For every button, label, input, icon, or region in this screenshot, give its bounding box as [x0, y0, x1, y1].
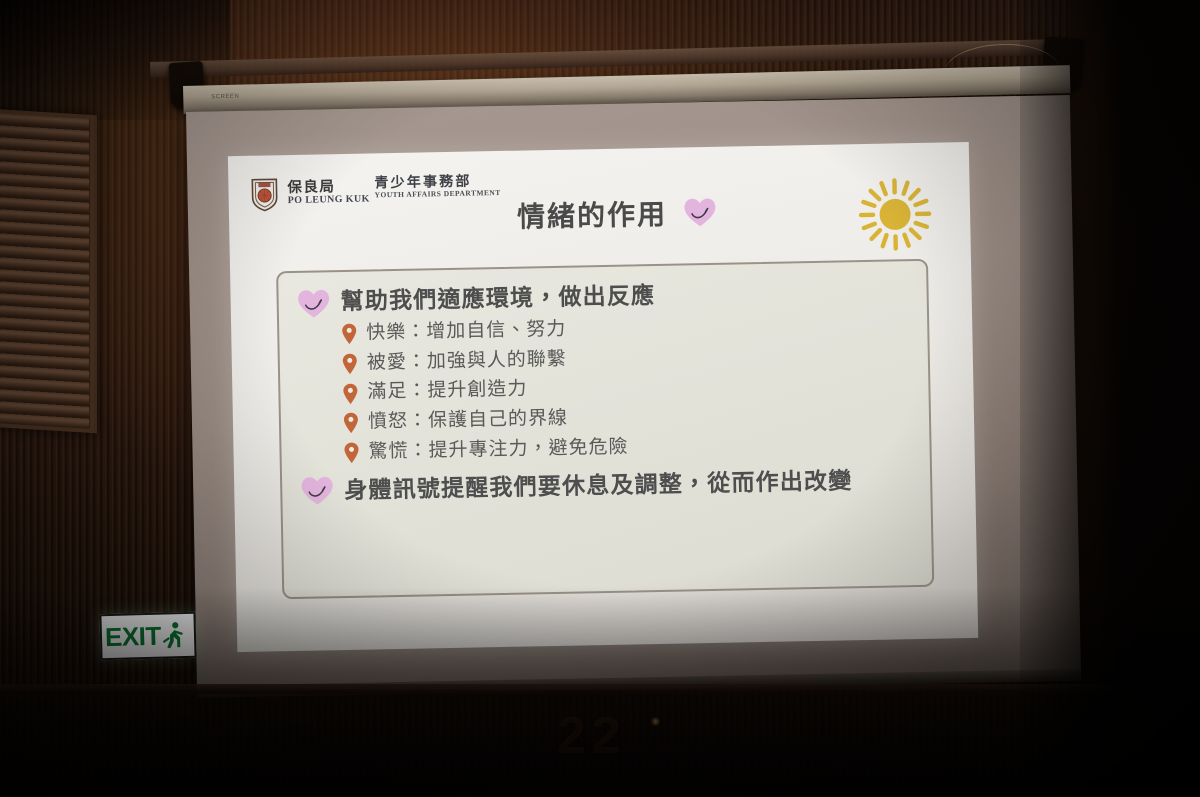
wall-shadow-bottom: [0, 587, 1200, 797]
vent-frame: [0, 109, 94, 433]
map-pin-icon: [343, 412, 359, 434]
heart-icon: [300, 476, 335, 507]
dept-name-en: Youth Affairs Department: [375, 189, 501, 200]
list-item-label: 驚慌：提升專注力，避免危險: [368, 435, 628, 465]
bullet-main-text: 幫助我們適應環境，做出反應: [340, 280, 655, 318]
ventilation-grille: [0, 109, 97, 434]
list-item: 憤怒：保護自己的界線: [343, 400, 913, 436]
po-leung-kuk-crest-icon: [250, 177, 279, 212]
sun-icon: [855, 175, 934, 254]
map-pin-icon: [342, 382, 358, 404]
map-pin-icon: [343, 442, 359, 464]
presentation-slide: 保良局 Po Leung Kuk 青少年事務部 Youth Affairs De…: [228, 142, 978, 652]
heart-icon: [683, 197, 718, 228]
list-item: 滿足：提升創造力: [342, 370, 912, 406]
org-name-en: Po Leung Kuk: [288, 195, 370, 207]
slide-content-box: 幫助我們適應環境，做出反應 快樂：增加自信、努力: [276, 259, 934, 599]
map-pin-icon: [341, 323, 357, 345]
organisation-names: 保良局 Po Leung Kuk: [287, 180, 370, 207]
list-item: 被愛：加強與人的聯繫: [342, 341, 912, 377]
list-item-label: 被愛：加強與人的聯繫: [367, 347, 567, 376]
housing-label: SCREEN: [211, 94, 239, 101]
list-item: 快樂：增加自信、努力: [341, 311, 911, 347]
organisation-branding: 保良局 Po Leung Kuk: [250, 175, 370, 211]
bullet-main-text: 身體訊號提醒我們要休息及調整，從而作出改變: [344, 464, 853, 509]
heart-icon: [296, 288, 331, 319]
photograph-of-projected-slide: SCREEN 保良局 Po: [0, 0, 1200, 797]
list-item: 驚慌：提升專注力，避免危險: [343, 430, 913, 466]
sub-bullet-list: 快樂：增加自信、努力 被愛：加強與人的聯繫: [341, 311, 914, 465]
page-title: 情緒的作用: [517, 193, 668, 236]
list-item-label: 憤怒：保護自己的界線: [368, 407, 568, 436]
list-item-label: 快樂：增加自信、努力: [366, 318, 566, 347]
list-item-label: 滿足：提升創造力: [367, 378, 527, 406]
bullet-main: 身體訊號提醒我們要休息及調整，從而作出改變: [300, 463, 915, 510]
department-names: 青少年事務部 Youth Affairs Department: [374, 174, 501, 200]
slide-header: 保良局 Po Leung Kuk 青少年事務部 Youth Affairs De…: [228, 160, 970, 236]
slide-title-group: 情緒的作用: [517, 192, 718, 236]
map-pin-icon: [342, 353, 358, 375]
